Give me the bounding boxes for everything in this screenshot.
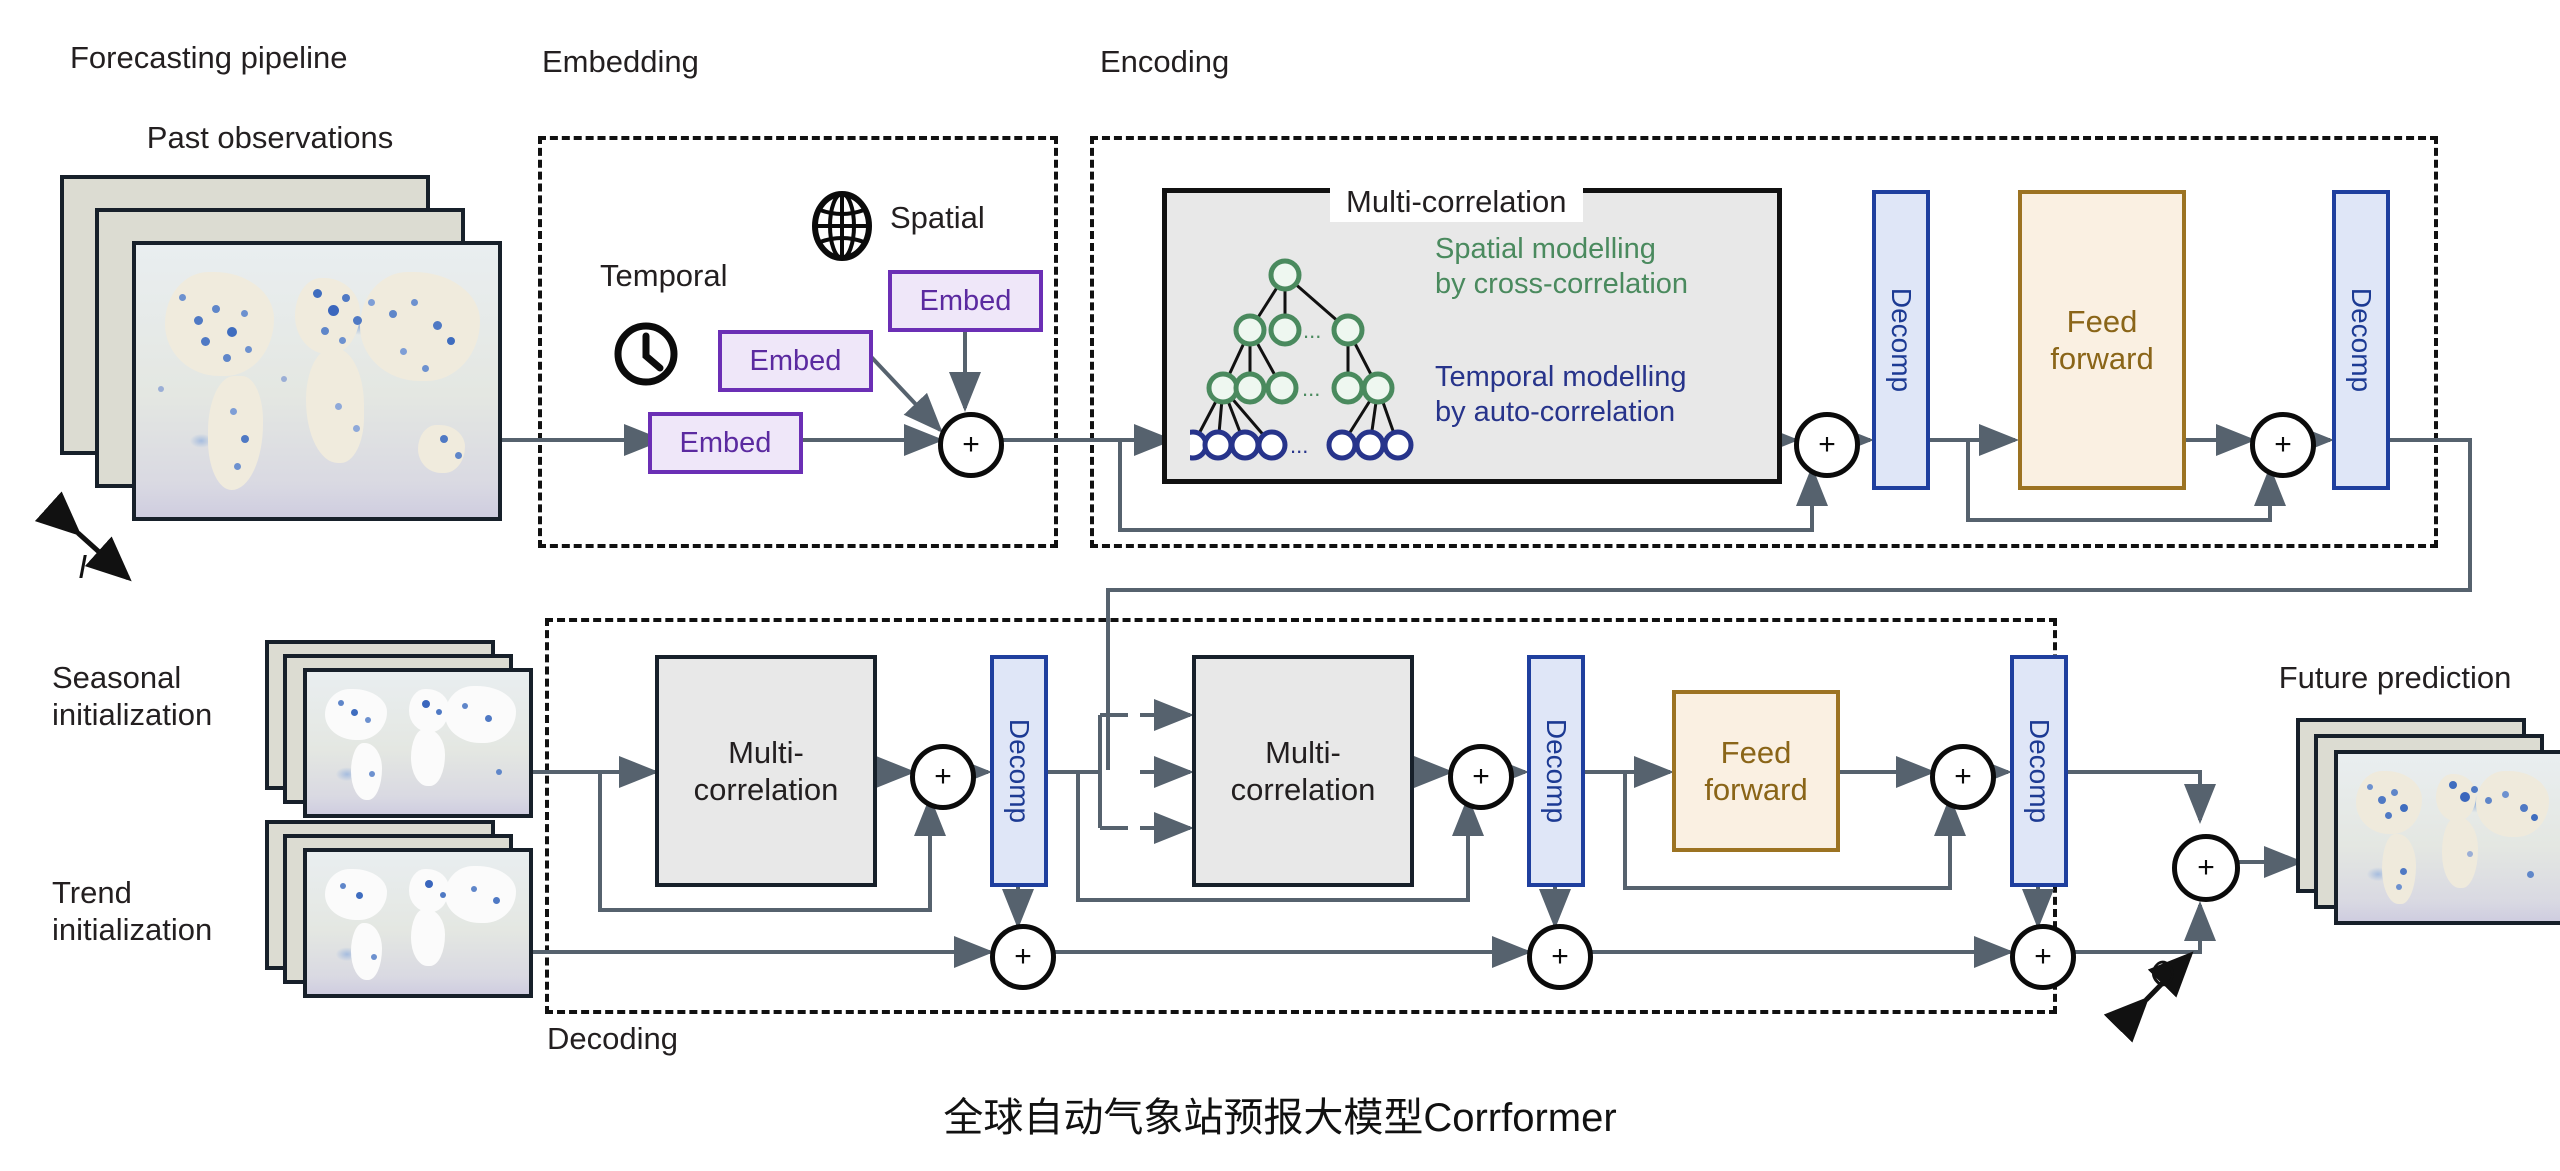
clock-icon <box>612 320 680 388</box>
group-title-decoding: Decoding <box>547 1021 678 1057</box>
figure-caption: 全球自动气象站预报大模型Corrformer <box>0 1085 2560 1143</box>
svg-text:...: ... <box>1302 376 1320 401</box>
encoder-sum-2: + <box>2250 412 2316 478</box>
spatial-modelling-text: Spatial modelling by cross-correlation <box>1435 232 1688 303</box>
temporal-modelling-text: Temporal modelling by auto-correlation <box>1435 360 1686 431</box>
decoder-sum-trend-3: + <box>2010 924 2076 990</box>
future-prediction-stack <box>2296 718 2560 988</box>
encoder-feed-forward-label: Feed forward <box>2050 303 2153 377</box>
output-length-label: O <box>2140 952 2185 997</box>
decoder-feed-forward[interactable]: Feed forward <box>1672 690 1840 852</box>
encoder-sum-1: + <box>1794 412 1860 478</box>
embed-spatial-label: Embed <box>920 285 1012 318</box>
group-title-encoding: Encoding <box>1100 44 1229 80</box>
embed-main-label: Embed <box>680 427 772 460</box>
decoder-sum-seasonal-3: + <box>1930 744 1996 810</box>
encoder-decomp-1-label: Decomp <box>1885 288 1917 392</box>
embed-spatial-box[interactable]: Embed <box>888 270 1043 332</box>
embedding-sum: + <box>938 412 1004 478</box>
decoder-decomp-1-label: Decomp <box>1003 719 1035 823</box>
globe-icon <box>810 190 874 262</box>
temporal-label: Temporal <box>600 258 728 295</box>
spatial-label: Spatial <box>890 200 985 237</box>
final-sum: + <box>2172 834 2240 902</box>
figure-canvas: Forecasting pipeline Embedding Encoding … <box>0 0 2560 1171</box>
decoder-decomp-2-label: Decomp <box>1540 719 1572 823</box>
encoder-decomp-2[interactable]: Decomp <box>2332 190 2390 490</box>
decoder-sum-trend-1: + <box>990 924 1056 990</box>
embed-temporal-label: Embed <box>750 345 842 378</box>
encoder-decomp-1[interactable]: Decomp <box>1872 190 1930 490</box>
decoder-decomp-2[interactable]: Decomp <box>1527 655 1585 887</box>
encoder-feed-forward[interactable]: Feed forward <box>2018 190 2186 490</box>
trend-init-stack <box>265 820 565 1020</box>
multi-correlation-title: Multi-correlation <box>1330 182 1583 222</box>
decoder-multi-correlation-1[interactable]: Multi- correlation <box>655 655 877 887</box>
future-prediction-label: Future prediction <box>2230 660 2560 697</box>
world-map-past <box>132 241 502 521</box>
decoder-mc2-label: Multi- correlation <box>1231 734 1376 808</box>
embed-main-box[interactable]: Embed <box>648 412 803 474</box>
decoder-decomp-1[interactable]: Decomp <box>990 655 1048 887</box>
group-title-embedding: Embedding <box>542 44 699 80</box>
seasonal-init-label: Seasonal initialization <box>52 660 212 733</box>
decoder-feed-forward-label: Feed forward <box>1704 734 1807 808</box>
svg-text:...: ... <box>1290 433 1308 458</box>
world-map-future <box>2334 750 2560 925</box>
seasonal-init-stack <box>265 640 565 840</box>
decoder-decomp-3[interactable]: Decomp <box>2010 655 2068 887</box>
decoder-multi-correlation-2[interactable]: Multi- correlation <box>1192 655 1414 887</box>
decoder-sum-trend-2: + <box>1527 924 1593 990</box>
world-map-trend <box>303 848 533 998</box>
embed-temporal-box[interactable]: Embed <box>718 330 873 392</box>
past-observations-label: Past observations <box>70 120 470 157</box>
past-observations-stack <box>60 175 510 530</box>
decoder-sum-seasonal-1: + <box>910 744 976 810</box>
decoder-mc1-label: Multi- correlation <box>694 734 839 808</box>
encoder-decomp-2-label: Decomp <box>2345 288 2377 392</box>
input-length-label: I <box>78 548 87 586</box>
decoder-decomp-3-label: Decomp <box>2023 719 2055 823</box>
trend-init-label: Trend initialization <box>52 875 212 948</box>
decoder-sum-seasonal-2: + <box>1448 744 1514 810</box>
svg-text:...: ... <box>1303 318 1321 343</box>
world-map-seasonal <box>303 668 533 818</box>
pipeline-title: Forecasting pipeline <box>70 40 347 77</box>
